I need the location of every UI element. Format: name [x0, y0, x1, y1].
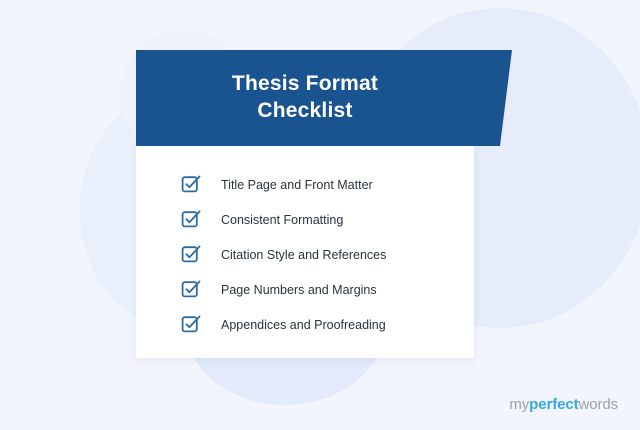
- list-item[interactable]: Appendices and Proofreading: [136, 307, 474, 342]
- logo-part-my: my: [509, 396, 529, 413]
- checkbox-checked-icon[interactable]: [182, 211, 199, 228]
- list-item-label: Consistent Formatting: [221, 212, 343, 228]
- checkbox-checked-icon[interactable]: [182, 246, 199, 263]
- list-item[interactable]: Page Numbers and Margins: [136, 272, 474, 307]
- checkbox-checked-icon[interactable]: [182, 316, 199, 333]
- infographic-canvas: Thesis Format Checklist Title Page and F…: [0, 0, 640, 430]
- card-header-banner: Thesis Format Checklist: [136, 50, 512, 146]
- checklist-card: Thesis Format Checklist Title Page and F…: [136, 50, 474, 358]
- logo-part-words: words: [578, 396, 618, 413]
- checklist-items: Title Page and Front Matter Consistent F…: [136, 145, 474, 342]
- logo-part-perfect: perfect: [529, 396, 578, 413]
- list-item[interactable]: Consistent Formatting: [136, 202, 474, 237]
- checkbox-checked-icon[interactable]: [182, 281, 199, 298]
- list-item[interactable]: Citation Style and References: [136, 237, 474, 272]
- list-item-label: Appendices and Proofreading: [221, 317, 386, 333]
- list-item[interactable]: Title Page and Front Matter: [136, 167, 474, 202]
- checkbox-checked-icon[interactable]: [182, 176, 199, 193]
- list-item-label: Page Numbers and Margins: [221, 282, 377, 298]
- brand-logo[interactable]: myperfectwords: [509, 396, 618, 413]
- list-item-label: Citation Style and References: [221, 247, 386, 263]
- list-item-label: Title Page and Front Matter: [221, 177, 373, 193]
- page-title: Thesis Format Checklist: [136, 70, 474, 124]
